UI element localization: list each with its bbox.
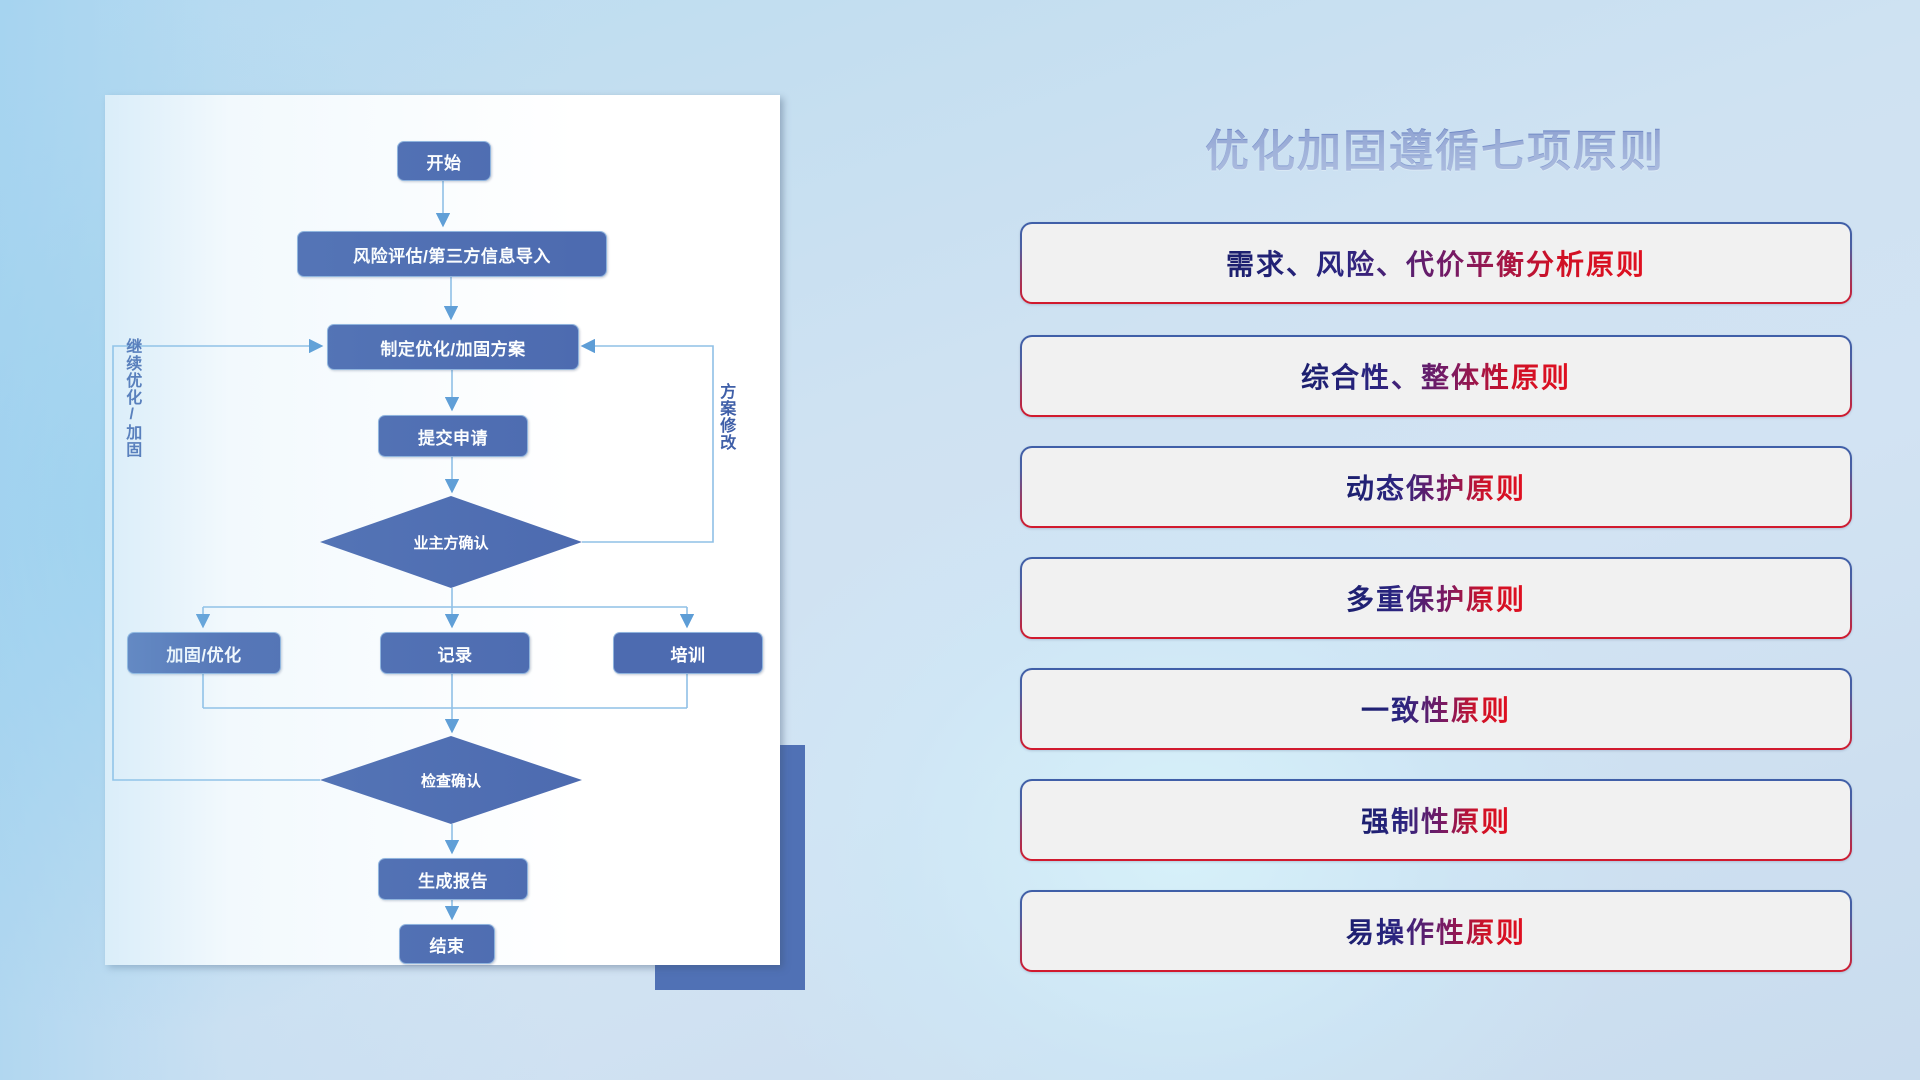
flowchart: 开始 风险评估/第三方信息导入 制定优化/加固方案 提交申请 业主方确认 加固/… — [105, 95, 780, 965]
principle-label: 易操作性原则 — [1346, 911, 1526, 951]
principles-panel: 优化加固遵循七项原则 需求、风险、代价平衡分析原则 综合性、整体性原则 动态保护… — [1020, 100, 1850, 1020]
flow-node-label: 检查确认 — [421, 770, 481, 791]
flow-node-label: 记录 — [438, 641, 473, 666]
flow-node-make-plan[interactable]: 制定优化/加固方案 — [327, 324, 579, 370]
principle-label: 强制性原则 — [1361, 800, 1511, 840]
principle-item-7[interactable]: 易操作性原则 — [1020, 890, 1852, 972]
flow-node-label: 提交申请 — [418, 424, 488, 449]
edge-label-plan-revise: 方案修改 — [717, 383, 734, 451]
principle-item-5[interactable]: 一致性原则 — [1020, 668, 1852, 750]
principle-item-3[interactable]: 动态保护原则 — [1020, 446, 1852, 528]
flow-node-label: 生成报告 — [418, 867, 488, 892]
flow-node-label: 业主方确认 — [413, 532, 488, 553]
principle-label: 动态保护原则 — [1346, 467, 1526, 507]
flow-node-label: 制定优化/加固方案 — [380, 335, 525, 360]
flow-node-start[interactable]: 开始 — [397, 141, 491, 181]
flow-node-submit-application[interactable]: 提交申请 — [378, 415, 528, 457]
principle-label: 综合性、整体性原则 — [1301, 356, 1571, 396]
flowchart-card: 开始 风险评估/第三方信息导入 制定优化/加固方案 提交申请 业主方确认 加固/… — [105, 95, 780, 965]
flow-node-check-confirm[interactable]: 检查确认 — [320, 736, 582, 824]
flow-node-training[interactable]: 培训 — [613, 632, 763, 674]
flow-node-label: 结束 — [430, 932, 465, 957]
principle-label: 多重保护原则 — [1346, 578, 1526, 618]
page-title: 优化加固遵循七项原则 — [1020, 115, 1850, 179]
flow-node-record[interactable]: 记录 — [380, 632, 530, 674]
flow-node-label: 培训 — [671, 641, 706, 666]
principle-item-2[interactable]: 综合性、整体性原则 — [1020, 335, 1852, 417]
flow-node-reinforce-optimize[interactable]: 加固/优化 — [127, 632, 281, 674]
principle-item-6[interactable]: 强制性原则 — [1020, 779, 1852, 861]
principle-item-1[interactable]: 需求、风险、代价平衡分析原则 — [1020, 222, 1852, 304]
flow-node-label: 开始 — [427, 149, 462, 174]
flow-node-risk-assessment[interactable]: 风险评估/第三方信息导入 — [297, 231, 607, 277]
principle-label: 需求、风险、代价平衡分析原则 — [1226, 243, 1646, 283]
principle-item-4[interactable]: 多重保护原则 — [1020, 557, 1852, 639]
flow-node-end[interactable]: 结束 — [399, 924, 495, 964]
flow-node-label: 风险评估/第三方信息导入 — [353, 242, 551, 267]
flow-node-generate-report[interactable]: 生成报告 — [378, 858, 528, 900]
flow-node-owner-confirm[interactable]: 业主方确认 — [320, 496, 582, 588]
edge-label-continue-optimize: 继续优化/加固 — [123, 338, 140, 458]
principle-label: 一致性原则 — [1361, 689, 1511, 729]
flow-node-label: 加固/优化 — [166, 641, 241, 666]
slide-canvas: 开始 风险评估/第三方信息导入 制定优化/加固方案 提交申请 业主方确认 加固/… — [0, 0, 1920, 1080]
